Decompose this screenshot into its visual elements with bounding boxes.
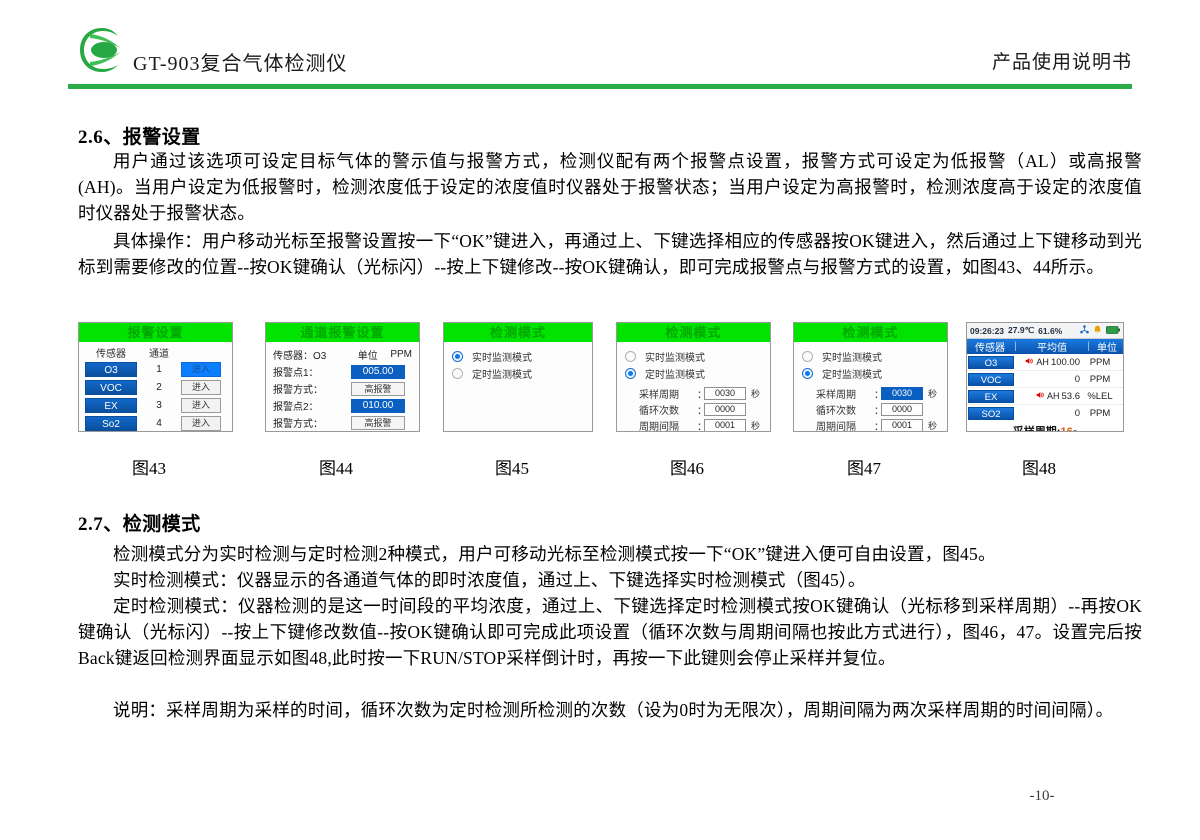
status-temperature: 27.9℃ [1008,325,1034,336]
channel-value: 4 [137,418,181,429]
section-2-7-paragraph-1: 检测模式分为实时检测与定时检测2种模式，用户可移动光标至检测模式按一下“OK”键… [78,541,1142,567]
device-screen-alarm-settings: 报警设置 传感器 通道 O3 1 进入 VOC 2 进入 EX [78,322,233,432]
field-label: 采样周期 [639,386,697,401]
sensor-chip-so2[interactable]: So2 [85,416,137,431]
field-suffix: 秒 [928,419,937,432]
field-suffix: 秒 [928,387,937,400]
screen-title-channel-alarm: 通道报警设置 [266,323,419,342]
field-cycle-interval[interactable]: 周期间隔 ： 0001 秒 [639,417,762,432]
table-row: EX AH 53.6 %LEL [967,388,1123,405]
figure-strip: 报警设置 传感器 通道 O3 1 进入 VOC 2 进入 EX [78,322,1142,482]
device-screen-channel-alarm-settings: 通道报警设置 传感器：O3 单位 PPM 报警点1： 005.00 报警方式： … [265,322,420,432]
manual-subtitle: 产品使用说明书 [992,47,1132,74]
figure-43: 报警设置 传感器 通道 O3 1 进入 VOC 2 进入 EX [78,322,233,432]
field-colon: ： [697,418,704,433]
section-heading-2-6: 2.6、报警设置 [78,122,201,149]
option-label: 实时监测模式 [472,349,532,364]
option-label: 定时监测模式 [472,366,532,381]
alarm-mode-2-value[interactable]: 高报警 [351,416,405,430]
sensor-chip-voc[interactable]: VOC [85,380,137,395]
table-header-row: 传感器 | 平均值 | 单位 [967,339,1123,354]
alarm-mode-1-value[interactable]: 高报警 [351,382,405,396]
sensor-chip-ex: EX [968,390,1014,403]
reading-value: 53.6 [1062,391,1081,402]
sensor-label: 传感器：O3 [273,347,343,362]
table-row[interactable]: EX 3 进入 [85,398,226,413]
table-row: O3 AH 100.00 PPM [967,354,1123,371]
sensor-reading-voc: 0 [1015,374,1083,385]
alarm-point-2-value[interactable]: 010.00 [351,399,405,413]
channel-value: 1 [137,364,181,375]
figure-caption-48: 图48 [1022,454,1056,479]
figure-caption-44: 图44 [319,454,353,479]
page-number-value: -10- [1030,788,1055,804]
radio-icon[interactable] [452,351,463,362]
table-row[interactable]: O3 1 进入 [85,362,226,377]
alarm-point-1-label: 报警点1： [273,364,351,379]
option-timed-mode[interactable]: 定时监测模式 [802,365,939,382]
option-label: 实时监测模式 [822,349,882,364]
reading-unit: PPM [1083,374,1117,385]
enter-button-voc[interactable]: 进入 [181,380,221,395]
screen-title-alarm-settings: 报警设置 [79,323,232,342]
alarm-flag: AH [1047,391,1060,401]
field-cycle-count[interactable]: 循环次数 ： 0000 [639,401,762,417]
field-value[interactable]: 0001 [704,419,746,432]
column-header-sensor: 传感器 [85,345,137,360]
sensor-chip-so2: SO2 [968,407,1014,420]
enter-button-ex[interactable]: 进入 [181,398,221,413]
field-value[interactable]: 0030 [881,387,923,400]
alarm-mode-1-label: 报警方式： [273,381,351,396]
speaker-alarm-icon [1036,391,1045,402]
reading-unit: PPM [1083,357,1117,368]
sensor-chip-ex[interactable]: EX [85,398,137,413]
field-colon: ： [874,402,881,417]
option-timed-mode[interactable]: 定时监测模式 [625,365,762,382]
field-label: 周期间隔 [816,418,874,433]
option-realtime-mode[interactable]: 实时监测模式 [802,348,939,365]
field-label: 周期间隔 [639,418,697,433]
alarm-mode-2-label: 报警方式： [273,415,351,430]
manual-title: GT-903复合气体检测仪 [133,47,347,76]
field-colon: ： [874,386,881,401]
alarm-point-1-row[interactable]: 报警点1： 005.00 [273,363,412,380]
reading-value: 100.00 [1051,357,1080,368]
alarm-point-2-row[interactable]: 报警点2： 010.00 [273,397,412,414]
page-footer: -10- [0,788,1200,805]
battery-icon [1106,326,1120,336]
figure-46: 检测模式 实时监测模式 定时监测模式 采样周期 ： 0030 秒 [616,322,771,432]
table-row[interactable]: So2 4 进入 [85,416,226,431]
footer-label: 采样周期 [1013,426,1057,432]
column-header-sensor: 传感器 [967,339,1013,354]
section-heading-2-7: 2.7、检测模式 [78,509,201,536]
sensor-unit-row: 传感器：O3 单位 PPM [273,346,412,363]
channel-value: 3 [137,400,181,411]
unit-label: 单位 [343,347,377,362]
field-label: 循环次数 [816,402,874,417]
sensor-chip-o3: O3 [968,356,1014,369]
figure-caption-45: 图45 [495,454,529,479]
reading-value: 0 [1075,374,1080,385]
section-2-6-paragraph-1: 用户通过该选项可设定目标气体的警示值与报警方式，检测仪配有两个报警点设置，报警方… [78,148,1142,226]
sensor-reading-o3: AH 100.00 [1015,357,1083,368]
sensor-reading-so2: 0 [1015,408,1083,419]
section-2-7-paragraph-2: 实时检测模式：仪器显示的各通道气体的即时浓度值，通过上、下键选择实时检测模式（图… [78,567,1142,593]
column-header-unit: 单位 [1091,339,1123,354]
table-header-row: 传感器 通道 [85,345,226,360]
field-label: 采样周期 [816,386,874,401]
alarm-mode-2-row[interactable]: 报警方式： 高报警 [273,414,412,431]
speaker-alarm-icon [1025,357,1034,368]
table-row[interactable]: VOC 2 进入 [85,380,226,395]
figure-45: 检测模式 实时监测模式 定时监测模式 图45 [443,322,593,432]
option-label: 实时监测模式 [645,349,705,364]
field-value[interactable]: 0000 [704,403,746,416]
radio-icon[interactable] [625,368,636,379]
channel-value: 2 [137,382,181,393]
field-suffix: 秒 [751,387,760,400]
figure-caption-47: 图47 [847,454,881,479]
screen-title-detect-mode: 检测模式 [444,323,592,342]
option-label: 定时监测模式 [645,366,705,381]
device-screen-detect-mode-timed-editing: 检测模式 实时监测模式 定时监测模式 采样周期 ： 0030 秒 [793,322,948,432]
field-value[interactable]: 0030 [704,387,746,400]
field-sampling-period[interactable]: 采样周期 ： 0030 秒 [639,385,762,401]
company-logo [78,26,126,74]
section-2-7-paragraph-3: 定时检测模式：仪器检测的是这一时间段的平均浓度，通过上、下键选择定时检测模式按O… [78,593,1142,671]
page-header: GT-903复合气体检测仪 产品使用说明书 [0,0,1200,90]
field-value[interactable]: 0000 [881,403,923,416]
field-label: 循环次数 [639,402,697,417]
column-header-channel: 通道 [137,345,181,360]
bell-icon [1093,325,1102,336]
alarm-point-2-label: 报警点2： [273,398,351,413]
field-colon: ： [874,418,881,433]
device-screen-detect-mode-realtime: 检测模式 实时监测模式 定时监测模式 [443,322,593,432]
field-cycle-interval[interactable]: 周期间隔 ： 0001 秒 [816,417,939,432]
figure-caption-46: 图46 [670,454,704,479]
table-row: SO2 0 PPM [967,405,1123,421]
field-colon: ： [697,402,704,417]
header-divider [68,84,1132,89]
radio-icon[interactable] [802,351,813,362]
status-time: 09:26:23 [970,326,1004,336]
enter-button-o3[interactable]: 进入 [181,362,221,377]
alarm-mode-1-row[interactable]: 报警方式： 高报警 [273,380,412,397]
radio-icon[interactable] [802,368,813,379]
field-suffix: 秒 [751,419,760,432]
option-realtime-mode[interactable]: 实时监测模式 [625,348,762,365]
footer-value: 16 [1060,426,1072,432]
network-icon [1080,325,1089,336]
sensor-reading-ex: AH 53.6 [1015,391,1083,402]
reading-unit: PPM [1083,408,1117,419]
status-humidity: 61.6% [1038,326,1062,336]
screen-title-detect-mode: 检测模式 [794,323,947,342]
reading-unit: %LEL [1083,391,1117,402]
alarm-point-1-value[interactable]: 005.00 [351,365,405,379]
footer-unit: s [1073,427,1078,432]
device-screen-detect-mode-timed: 检测模式 实时监测模式 定时监测模式 采样周期 ： 0030 秒 [616,322,771,432]
figure-47: 检测模式 实时监测模式 定时监测模式 采样周期 ： 0030 秒 [793,322,948,432]
radio-icon[interactable] [452,368,463,379]
radio-icon[interactable] [625,351,636,362]
column-header-average: 平均值 [1018,339,1086,354]
enter-button-so2[interactable]: 进入 [181,416,221,431]
figure-caption-43: 图43 [132,454,166,479]
field-value[interactable]: 0001 [881,419,923,432]
alarm-flag: AH [1036,357,1049,367]
screen-title-detect-mode: 检测模式 [617,323,770,342]
option-label: 定时监测模式 [822,366,882,381]
reading-value: 0 [1075,408,1080,419]
unit-value: PPM [378,349,412,360]
sensor-chip-voc: VOC [968,373,1014,386]
option-timed-mode[interactable]: 定时监测模式 [452,365,584,382]
device-screen-measurement-display: 09:26:23 27.9℃ 61.6% 传感器 | 平均值 | 单 [966,322,1124,432]
section-2-7-paragraph-4: 说明：采样周期为采样的时间，循环次数为定时检测所检测的次数（设为0时为无限次），… [78,697,1142,723]
field-cycle-count[interactable]: 循环次数 ： 0000 [816,401,939,417]
figure-44: 通道报警设置 传感器：O3 单位 PPM 报警点1： 005.00 报警方式： … [265,322,420,432]
status-bar: 09:26:23 27.9℃ 61.6% [967,323,1123,339]
field-colon: ： [697,386,704,401]
figure-48: 09:26:23 27.9℃ 61.6% 传感器 | 平均值 | 单 [966,322,1124,432]
option-realtime-mode[interactable]: 实时监测模式 [452,348,584,365]
section-2-6-paragraph-2: 具体操作：用户移动光标至报警设置按一下“OK”键进入，再通过上、下键选择相应的传… [78,228,1142,280]
sampling-period-footer: 采样周期:16s [967,421,1123,432]
sensor-chip-o3[interactable]: O3 [85,362,137,377]
table-row: VOC 0 PPM [967,371,1123,388]
field-sampling-period[interactable]: 采样周期 ： 0030 秒 [816,385,939,401]
